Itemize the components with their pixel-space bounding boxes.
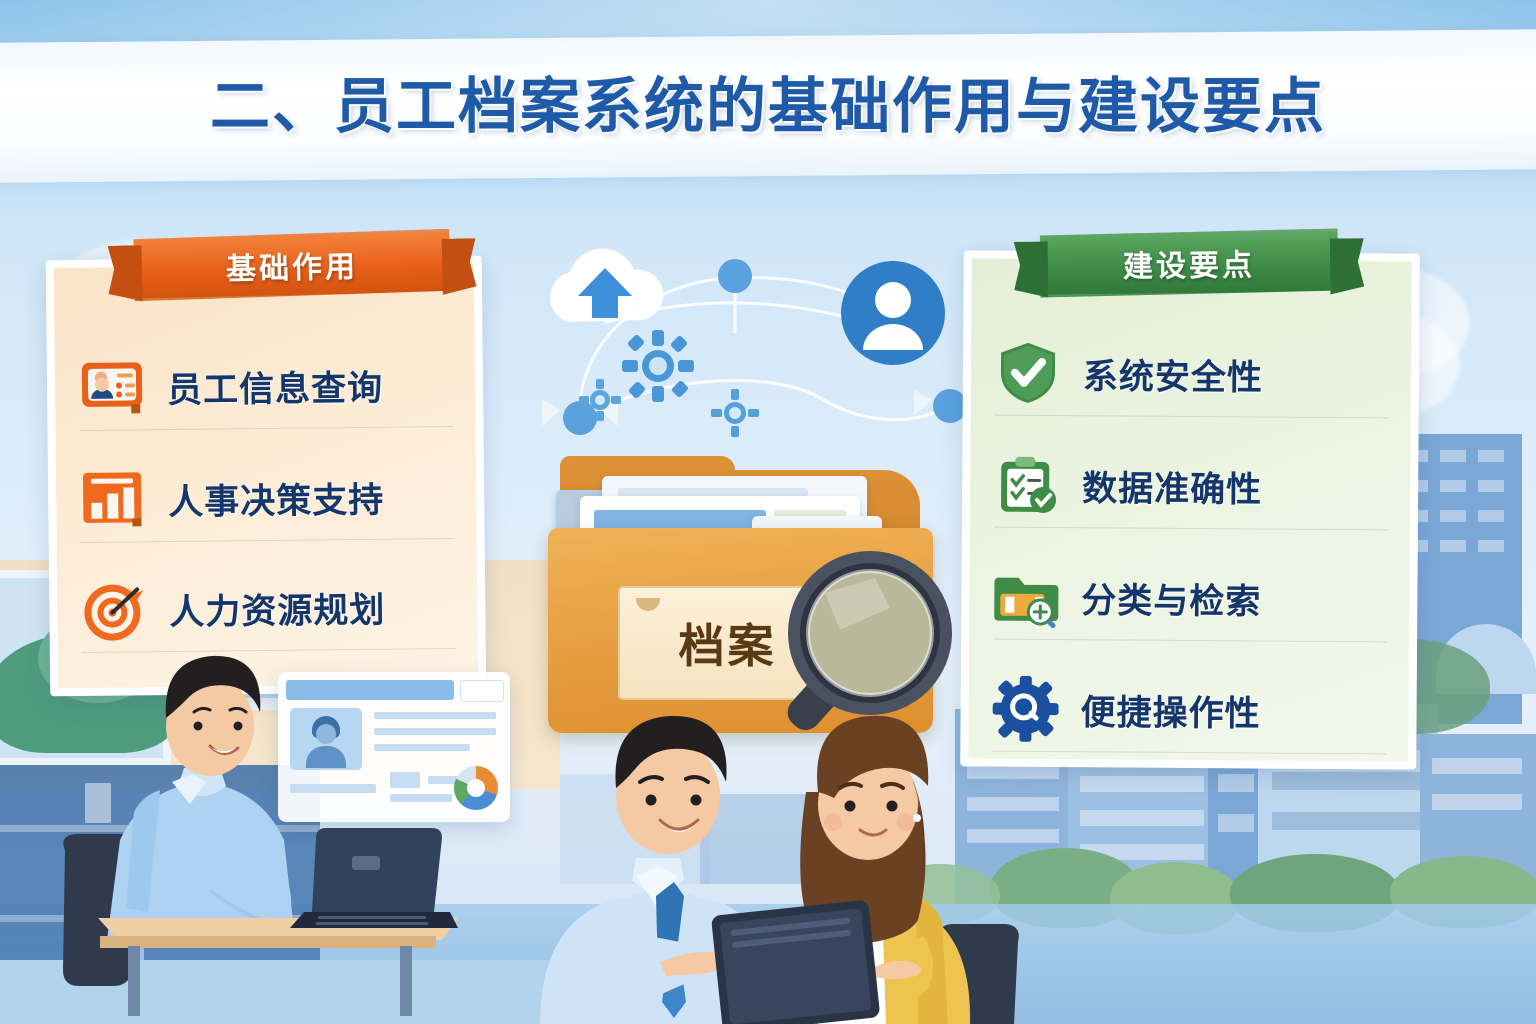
- list-item[interactable]: 人事决策支持: [80, 454, 455, 543]
- bar-chart-icon: [80, 466, 147, 533]
- list-item[interactable]: 数据准确性: [994, 443, 1389, 531]
- list-item-label: 人力资源规划: [169, 581, 386, 634]
- page-title: 二、员工档案系统的基础作用与建设要点: [0, 58, 1536, 145]
- gear-small-icon: [578, 378, 622, 422]
- gear-icon: [620, 328, 696, 404]
- list-item-label: 数据准确性: [1082, 460, 1262, 512]
- list-item-label: 分类与检索: [1081, 572, 1261, 624]
- office-worker-at-laptop: [60, 640, 530, 1024]
- folder-label-text: 档案: [679, 610, 777, 676]
- gear-small-icon: [710, 388, 760, 438]
- banner-label: 基础作用: [226, 242, 359, 289]
- shield-check-icon: [995, 340, 1061, 406]
- basic-functions-banner: 基础作用: [107, 228, 476, 302]
- construction-points-panel: 系统安全性 数据准确性: [960, 250, 1420, 769]
- list-item-label: 系统安全性: [1083, 348, 1263, 400]
- list-item[interactable]: 系统安全性: [995, 331, 1390, 419]
- infographic-canvas: 二、员工档案系统的基础作用与建设要点: [0, 0, 1536, 1024]
- basic-functions-panel: 员工信息查询 人事决策支持: [46, 256, 487, 697]
- central-archive-illustration: 档案: [520, 228, 990, 728]
- construction-points-banner: 建设要点: [1014, 228, 1365, 298]
- list-item-label: 员工信息查询: [167, 359, 384, 412]
- folder-search-icon: [993, 564, 1059, 630]
- list-item-label: 便捷操作性: [1080, 684, 1260, 736]
- banner-label: 建设要点: [1123, 240, 1255, 285]
- two-colleagues-with-tablet: [520, 700, 1040, 1024]
- list-item-label: 人事决策支持: [168, 471, 385, 524]
- clipboard-check-icon: [994, 452, 1060, 518]
- list-item[interactable]: 便捷操作性: [992, 667, 1387, 755]
- user-avatar-icon: [838, 258, 948, 368]
- list-item[interactable]: 员工信息查询: [79, 342, 454, 431]
- list-item[interactable]: 分类与检索: [993, 555, 1388, 643]
- target-icon: [81, 576, 148, 643]
- id-card-icon: [79, 354, 146, 421]
